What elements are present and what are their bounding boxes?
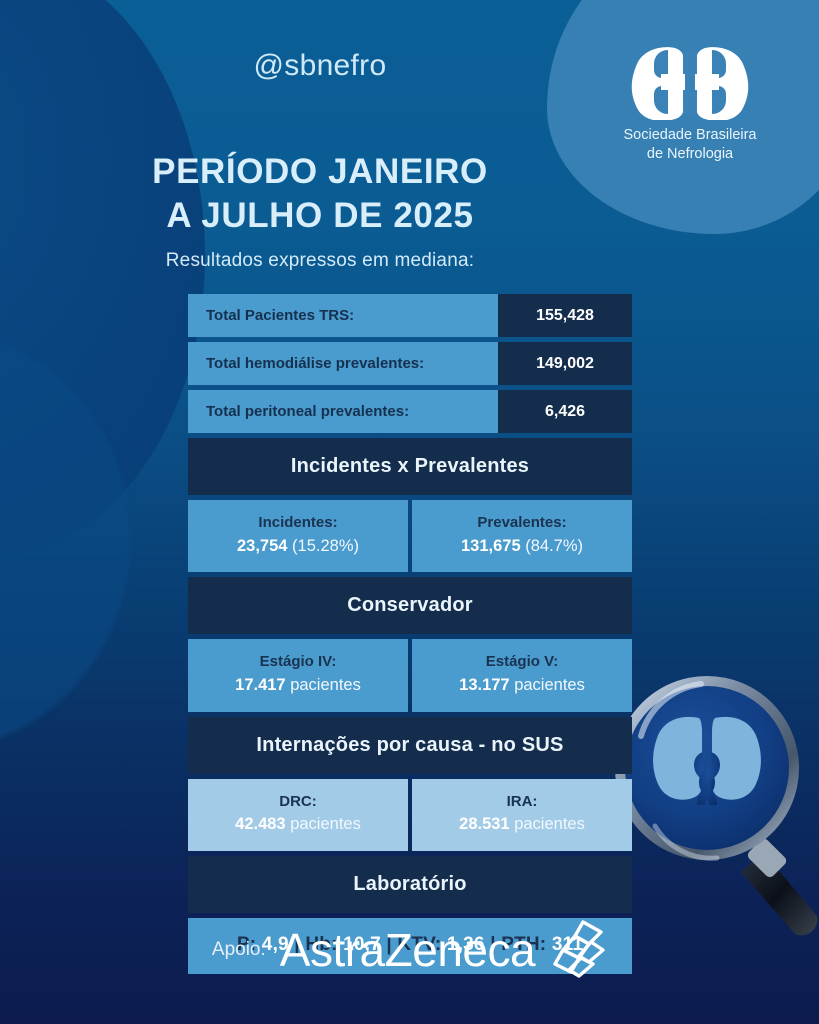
incidentes-value: 23,754 (15.28%) xyxy=(192,535,404,559)
kidneys-icon xyxy=(631,44,749,120)
page-title: PERÍODO JANEIRO A JULHO DE 2025 xyxy=(0,150,640,238)
ira-cell: IRA: 28.531 pacientes xyxy=(412,779,632,851)
ira-suffix: pacientes xyxy=(514,815,585,833)
page-subtitle: Resultados expressos em mediana: xyxy=(0,250,640,272)
drc-number: 42.483 xyxy=(235,815,285,833)
estagio-iv-value: 17.417 pacientes xyxy=(192,674,404,698)
sbn-logo-name: Sociedade Brasileira de Nefrologia xyxy=(583,126,797,163)
astrazeneca-logo-icon xyxy=(545,918,607,982)
total-trs-value: 155,428 xyxy=(498,294,632,337)
table-row: Total peritoneal prevalentes: 6,426 xyxy=(188,390,632,433)
prevalentes-value: 131,675 (84.7%) xyxy=(416,535,628,559)
incidentes-title: Incidentes: xyxy=(192,512,404,535)
astrazeneca-wordmark: AstraZeneca xyxy=(280,927,535,973)
section-header-incidentes-prevalentes: Incidentes x Prevalentes xyxy=(188,438,632,495)
sbn-logo: Sociedade Brasileira de Nefrologia xyxy=(583,44,797,163)
drc-value: 42.483 pacientes xyxy=(192,813,404,837)
incidentes-number: 23,754 xyxy=(237,537,287,555)
section-header-conservador: Conservador xyxy=(188,577,632,634)
estagio-v-value: 13.177 pacientes xyxy=(416,674,628,698)
social-handle: @sbnefro xyxy=(0,49,640,83)
estagio-v-suffix: pacientes xyxy=(514,676,585,694)
page-title-line-1: PERÍODO JANEIRO xyxy=(152,152,488,191)
estagio-iv-title: Estágio IV: xyxy=(192,651,404,674)
total-hemodialise-value: 149,002 xyxy=(498,342,632,385)
prevalentes-number: 131,675 xyxy=(461,537,521,555)
apoio-label: Apoio: xyxy=(212,939,266,961)
section-row-incidentes-prevalentes: Incidentes: 23,754 (15.28%) Prevalentes:… xyxy=(188,500,632,572)
prevalentes-suffix: (84.7%) xyxy=(525,537,583,555)
sbn-name-line-1: Sociedade Brasileira xyxy=(624,127,757,143)
total-hemodialise-label: Total hemodiálise prevalentes: xyxy=(188,342,498,385)
prevalentes-title: Prevalentes: xyxy=(416,512,628,535)
drc-cell: DRC: 42.483 pacientes xyxy=(188,779,408,851)
section-row-internacoes: DRC: 42.483 pacientes IRA: 28.531 pacien… xyxy=(188,779,632,851)
estagio-v-cell: Estágio V: 13.177 pacientes xyxy=(412,639,632,711)
page-title-line-2: A JULHO DE 2025 xyxy=(0,194,640,238)
estagio-v-title: Estágio V: xyxy=(416,651,628,674)
prevalentes-cell: Prevalentes: 131,675 (84.7%) xyxy=(412,500,632,572)
ira-title: IRA: xyxy=(416,791,628,814)
total-trs-label: Total Pacientes TRS: xyxy=(188,294,498,337)
incidentes-suffix: (15.28%) xyxy=(292,537,359,555)
magnifying-glass-with-kidneys-icon xyxy=(611,640,819,940)
section-header-internacoes: Internações por causa - no SUS xyxy=(188,717,632,774)
estagio-v-number: 13.177 xyxy=(459,676,509,694)
table-row: Total Pacientes TRS: 155,428 xyxy=(188,294,632,337)
ira-number: 28.531 xyxy=(459,815,509,833)
estagio-iv-cell: Estágio IV: 17.417 pacientes xyxy=(188,639,408,711)
incidentes-cell: Incidentes: 23,754 (15.28%) xyxy=(188,500,408,572)
estagio-iv-suffix: pacientes xyxy=(290,676,361,694)
drc-suffix: pacientes xyxy=(290,815,361,833)
infographic-poster: @sbnefro PERÍODO JANEIRO A JULHO DE 2025… xyxy=(0,0,819,1024)
ira-value: 28.531 pacientes xyxy=(416,813,628,837)
section-row-conservador: Estágio IV: 17.417 pacientes Estágio V: … xyxy=(188,639,632,711)
drc-title: DRC: xyxy=(192,791,404,814)
section-header-laboratorio: Laboratório xyxy=(188,856,632,913)
sbn-name-line-2: de Nefrologia xyxy=(647,146,733,162)
total-peritoneal-label: Total peritoneal prevalentes: xyxy=(188,390,498,433)
statistics-table: Total Pacientes TRS: 155,428 Total hemod… xyxy=(188,294,632,979)
table-row: Total hemodiálise prevalentes: 149,002 xyxy=(188,342,632,385)
total-peritoneal-value: 6,426 xyxy=(498,390,632,433)
estagio-iv-number: 17.417 xyxy=(235,676,285,694)
sponsor-footer: Apoio: AstraZeneca xyxy=(0,918,819,982)
